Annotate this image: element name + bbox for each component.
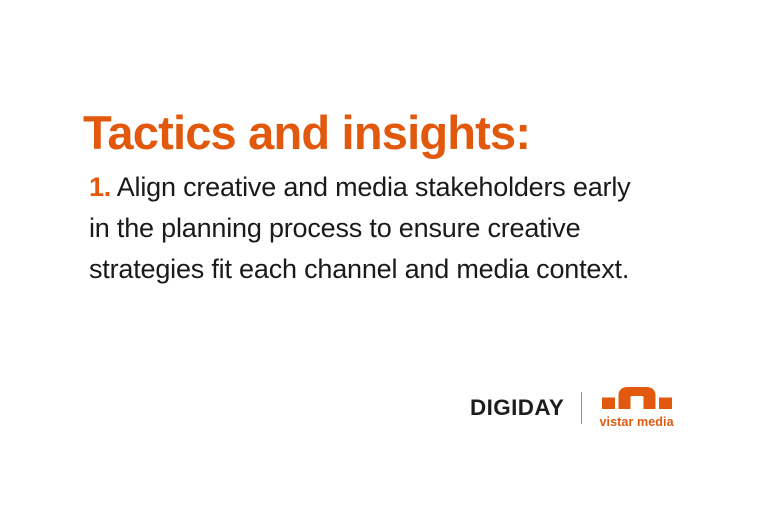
tactic-item-text: Align creative and media stakeholders ea… — [89, 172, 630, 284]
slide-canvas: Tactics and insights: 1. Align creative … — [0, 0, 760, 518]
digiday-logo: DIGIDAY — [470, 397, 564, 419]
vistar-m-mark-icon — [602, 387, 672, 413]
vistar-media-wordmark: vistar media — [599, 416, 673, 429]
tactic-item: 1. Align creative and media stakeholders… — [89, 167, 649, 290]
tactic-item-number: 1. — [89, 172, 111, 202]
vistar-media-logo: vistar media — [599, 387, 673, 429]
logo-lockup: DIGIDAY vistar media — [470, 386, 674, 430]
page-title: Tactics and insights: — [83, 105, 530, 161]
logo-divider — [581, 392, 582, 424]
tactic-paragraph: 1. Align creative and media stakeholders… — [89, 167, 649, 290]
